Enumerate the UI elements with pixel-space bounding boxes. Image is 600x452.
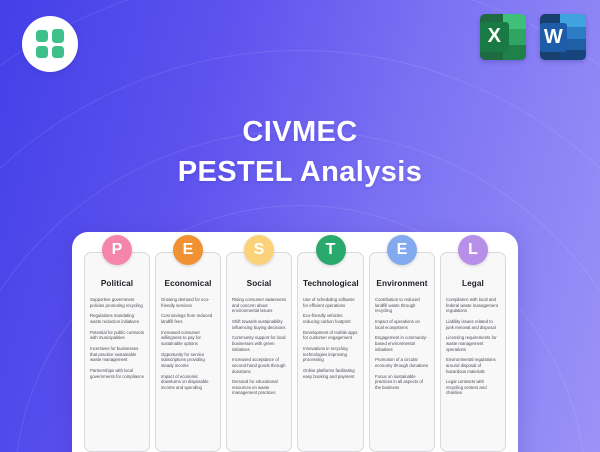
pestel-item: Regulations mandating waste reduction in… [90, 313, 144, 324]
pestel-item: Shift towards sustainability influencing… [232, 319, 286, 330]
pestel-item-list: Rising consumer awareness and concern ab… [232, 297, 286, 396]
pestel-column-economical[interactable]: EEconomicalGrowing demand for eco-friend… [155, 252, 221, 452]
pestel-item: Incentives for businesses that practice … [90, 346, 144, 363]
pestel-item: Eco-friendly vehicles reducing carbon fo… [303, 313, 358, 324]
pestel-item: Impact of operations on local ecosystems [375, 319, 429, 330]
brand-logo[interactable] [22, 16, 78, 72]
pestel-item: Impact of economic downturns on disposab… [161, 374, 215, 391]
page-title: CIVMEC PESTEL Analysis [0, 112, 600, 192]
logo-square-1 [36, 30, 48, 42]
pestel-column-technological[interactable]: TTechnologicalUse of scheduling software… [297, 252, 364, 452]
pestel-column-title: Legal [446, 279, 500, 288]
pestel-item: Use of scheduling software for efficient… [303, 297, 358, 308]
pestel-column-environment[interactable]: EEnvironmentContribution to reduced land… [369, 252, 435, 452]
pestel-panel: PPoliticalSupportive government policies… [72, 232, 518, 452]
pestel-column-title: Technological [303, 279, 358, 288]
pestel-badge-environment: E [387, 235, 417, 265]
pestel-item: Partnerships with local governments for … [90, 368, 144, 379]
word-icon[interactable]: W [540, 14, 586, 60]
pestel-column-social[interactable]: SSocialRising consumer awareness and con… [226, 252, 292, 452]
pestel-column-title: Environment [375, 279, 429, 288]
pestel-item: Legal contracts with recycling centers a… [446, 379, 500, 396]
pestel-item: Increased consumer willingness to pay fo… [161, 330, 215, 347]
pestel-item: Compliance with local and federal waste … [446, 297, 500, 314]
slide-canvas: X W CIVMEC PESTEL Analysis PPoliticalSup… [0, 0, 600, 452]
pestel-badge-social: S [244, 235, 274, 265]
pestel-badge-political: P [102, 235, 132, 265]
word-letter: W [540, 23, 567, 52]
pestel-item: Demand for educational resources on wast… [232, 379, 286, 396]
pestel-item: Contribution to reduced landfill waste t… [375, 297, 429, 314]
pestel-item: Promotion of a circular economy through … [375, 357, 429, 368]
pestel-item: Online platforms facilitating easy booki… [303, 368, 358, 379]
pestel-item: Opportunity for service subscriptions pr… [161, 352, 215, 369]
pestel-item-list: Compliance with local and federal waste … [446, 297, 500, 396]
pestel-item: Licensing requirements for waste managem… [446, 335, 500, 352]
pestel-item: Increased acceptance of second-hand good… [232, 357, 286, 374]
logo-square-3 [36, 46, 48, 58]
pestel-item: Rising consumer awareness and concern ab… [232, 297, 286, 314]
pestel-item: Potential for public contracts with muni… [90, 330, 144, 341]
pestel-columns: PPoliticalSupportive government policies… [84, 252, 506, 452]
excel-letter: X [480, 22, 509, 51]
pestel-item: Cost savings from reduced landfill fees [161, 313, 215, 324]
pestel-column-legal[interactable]: LLegalCompliance with local and federal … [440, 252, 506, 452]
pestel-item: Innovations in recycling technologies im… [303, 346, 358, 363]
pestel-column-political[interactable]: PPoliticalSupportive government policies… [84, 252, 150, 452]
pestel-badge-technological: T [316, 235, 346, 265]
pestel-column-title: Social [232, 279, 286, 288]
pestel-item: Focus on sustainable practices in all as… [375, 374, 429, 391]
pestel-item: Environmental regulations around disposa… [446, 357, 500, 374]
pestel-badge-economical: E [173, 235, 203, 265]
pestel-item-list: Supportive government policies promoting… [90, 297, 144, 379]
pestel-item: Engagement in community-based environmen… [375, 335, 429, 352]
pestel-badge-legal: L [458, 235, 488, 265]
excel-icon[interactable]: X [480, 14, 526, 60]
pestel-item-list: Contribution to reduced landfill waste t… [375, 297, 429, 390]
pestel-item: Liability issues related to junk removal… [446, 319, 500, 330]
logo-square-2 [52, 29, 64, 43]
pestel-column-title: Political [90, 279, 144, 288]
pestel-item-list: Growing demand for eco-friendly services… [161, 297, 215, 390]
export-format-icons: X W [480, 14, 586, 60]
pestel-item: Growing demand for eco-friendly services [161, 297, 215, 308]
pestel-item: Community support for local businesses w… [232, 335, 286, 352]
logo-square-4 [52, 46, 64, 58]
pestel-item: Supportive government policies promoting… [90, 297, 144, 308]
title-company: CIVMEC [0, 112, 600, 152]
grid-logo-icon [36, 30, 64, 58]
pestel-item-list: Use of scheduling software for efficient… [303, 297, 358, 379]
pestel-item: Development of mobile apps for customer … [303, 330, 358, 341]
title-subject: PESTEL Analysis [0, 152, 600, 192]
pestel-column-title: Economical [161, 279, 215, 288]
